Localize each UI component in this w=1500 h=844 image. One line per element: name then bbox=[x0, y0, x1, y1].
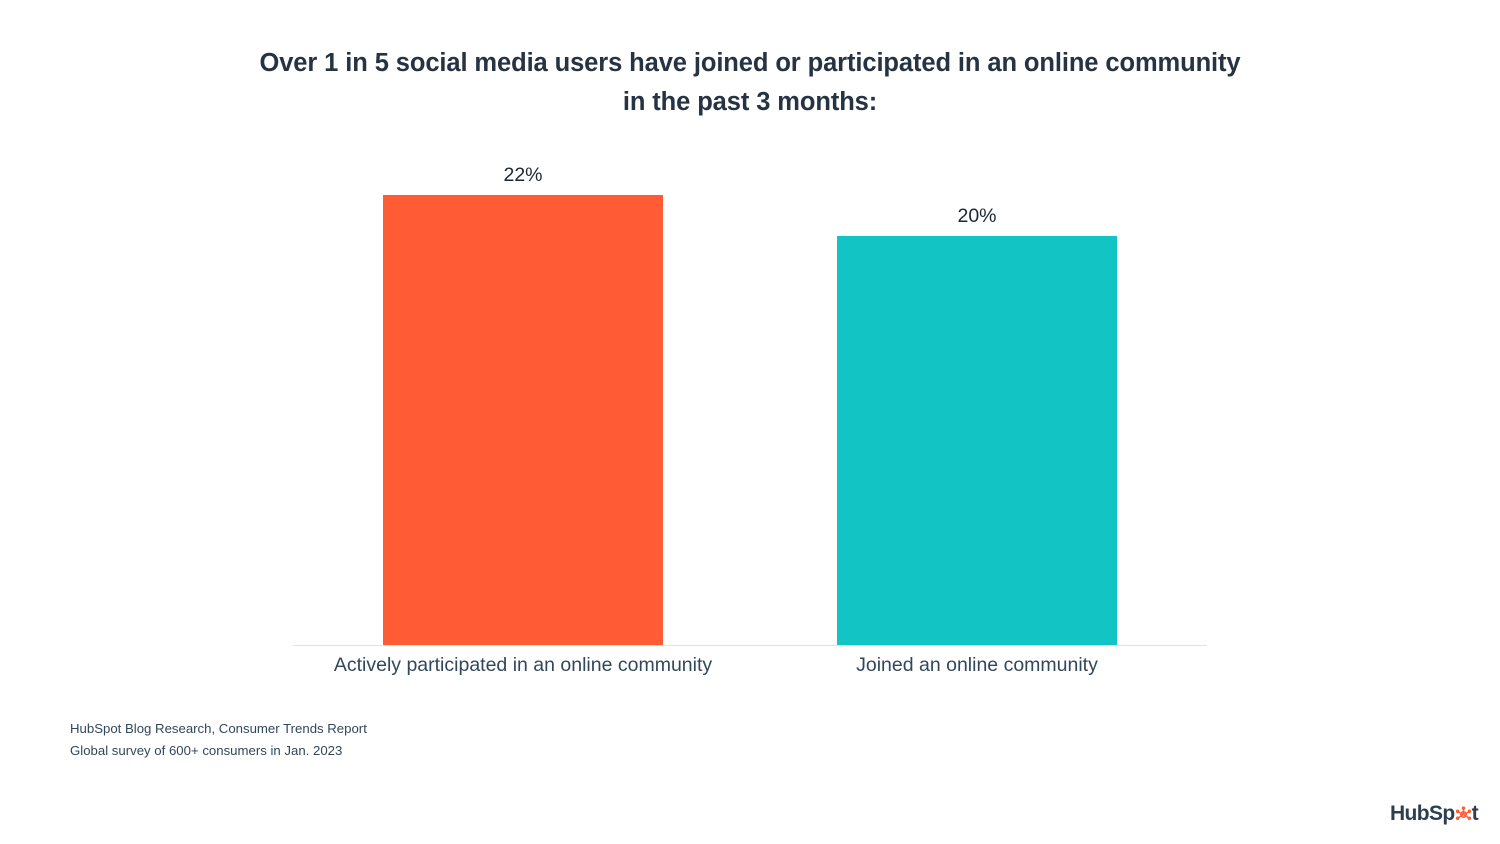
chart-slide: Over 1 in 5 social media users have join… bbox=[0, 0, 1500, 844]
category-label-actively-participated: Actively participated in an online commu… bbox=[303, 652, 743, 678]
bar-value-label-0: 22% bbox=[383, 166, 663, 186]
logo-text-before: HubSp bbox=[1390, 803, 1455, 824]
bar-joined-community[interactable] bbox=[837, 236, 1117, 645]
bar-value-label-1: 20% bbox=[837, 207, 1117, 227]
plot-area: 22% 20% bbox=[293, 150, 1207, 646]
source-note: HubSpot Blog Research, Consumer Trends R… bbox=[70, 718, 367, 762]
bar-actively-participated[interactable] bbox=[383, 195, 663, 645]
logo-text-after: t bbox=[1472, 803, 1478, 824]
x-axis-line bbox=[293, 645, 1207, 646]
bar-group-0: 22% bbox=[383, 150, 663, 645]
source-line-2: Global survey of 600+ consumers in Jan. … bbox=[70, 740, 367, 762]
chart-title: Over 1 in 5 social media users have join… bbox=[250, 44, 1250, 122]
sprocket-icon bbox=[1455, 806, 1472, 823]
category-label-joined-community: Joined an online community bbox=[757, 652, 1197, 678]
bar-group-1: 20% bbox=[837, 150, 1117, 645]
source-line-1: HubSpot Blog Research, Consumer Trends R… bbox=[70, 718, 367, 740]
chart-title-line-1: Over 1 in 5 social media users have join… bbox=[259, 49, 1098, 77]
hubspot-logo: HubSp t bbox=[1390, 800, 1478, 826]
